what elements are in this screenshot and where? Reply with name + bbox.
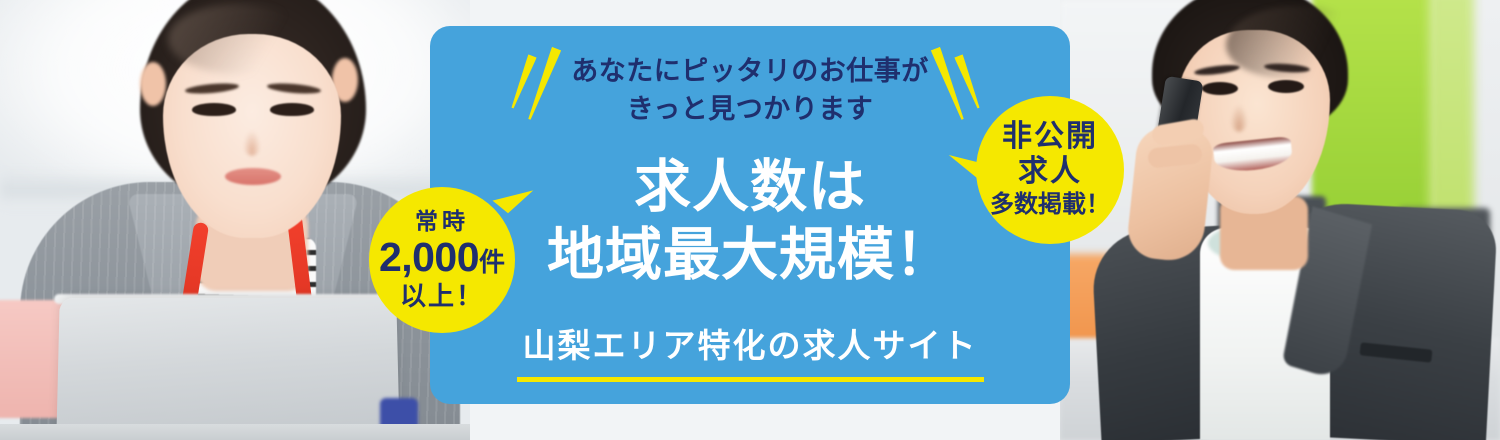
job-site-hero-banner: あなたにピッタリのお仕事が きっと見つかります 求人数は 地域最大規模！ 山梨エ…	[0, 0, 1500, 440]
photo-right-man-on-phone	[1060, 0, 1500, 440]
badge-right-line-3: 多数掲載！	[990, 191, 1110, 220]
badge-private-listings: 非公開 求人 多数掲載！	[976, 96, 1124, 244]
man-nose	[1230, 104, 1248, 132]
badge-left-line-3: 以上！	[400, 282, 484, 311]
badge-right-line-1: 非公開	[1002, 120, 1098, 154]
headline-line-2: 地域最大規模！	[430, 221, 1070, 289]
man-eye-right	[1268, 80, 1304, 93]
subtitle-container: 山梨エリア特化の求人サイト	[430, 319, 1070, 382]
woman-eye-right	[270, 103, 314, 116]
woman-lips	[225, 168, 281, 185]
woman-eye-left	[192, 103, 236, 116]
man-eye-left	[1202, 82, 1238, 95]
laptop	[56, 298, 399, 440]
subtitle: 山梨エリア特化の求人サイト	[517, 319, 984, 382]
badge-right-line-2: 求人	[1018, 155, 1082, 189]
badge-left-count-row: 2,000件	[379, 235, 505, 281]
office-chair	[0, 300, 66, 418]
woman-hair-highlight	[168, 4, 308, 74]
badge-left-line-1: 常時	[415, 209, 469, 234]
woman-nose	[243, 130, 261, 156]
badge-left-number: 2,000	[379, 234, 479, 280]
badge-left-unit: 件	[479, 247, 505, 277]
desk-surface	[0, 424, 470, 440]
badge-job-count: 常時 2,000件 以上！	[369, 187, 515, 333]
woman-ear-left	[140, 62, 166, 106]
